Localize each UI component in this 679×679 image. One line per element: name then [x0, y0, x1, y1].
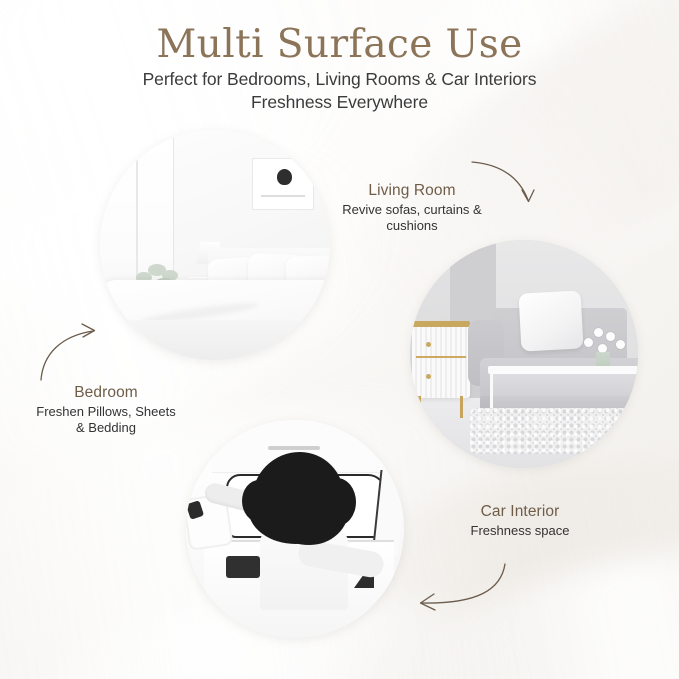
callout-description-line-2: cushions — [322, 218, 502, 234]
livingroom-cushion — [519, 290, 584, 351]
callout-bedroom: Bedroom Freshen Pillows, Sheets & Beddin… — [6, 384, 206, 436]
callout-description: Freshness space — [430, 523, 610, 539]
cabinet-leg — [460, 396, 463, 418]
woman-curly-hair — [252, 452, 344, 538]
cabinet-knob — [426, 342, 431, 347]
callout-description: Revive sofas, curtains & cushions — [322, 202, 502, 234]
cabinet-gold-line — [416, 356, 466, 358]
callout-description-line-1: Freshen Pillows, Sheets — [6, 404, 206, 420]
subtitle-line-1: Perfect for Bedrooms, Living Rooms & Car… — [0, 68, 679, 91]
livingroom-rug — [470, 408, 638, 454]
car-photo — [186, 420, 404, 638]
page-subtitle: Perfect for Bedrooms, Living Rooms & Car… — [0, 68, 679, 114]
callout-description-line-1: Freshness space — [430, 523, 610, 539]
car-scene — [186, 420, 404, 638]
livingroom-photo — [410, 240, 638, 468]
callout-description-line-1: Revive sofas, curtains & — [322, 202, 502, 218]
car-roof-slot — [268, 446, 320, 450]
car-shadow-shape — [226, 556, 260, 578]
livingroom-scene — [410, 240, 638, 468]
subtitle-line-2: Freshness Everywhere — [0, 91, 679, 114]
bedroom-floor — [100, 320, 330, 360]
cabinet-knob — [426, 374, 431, 379]
callout-living-room: Living Room Revive sofas, curtains & cus… — [322, 182, 502, 234]
callout-car-interior: Car Interior Freshness space — [430, 503, 610, 539]
bedroom-wall-art — [252, 158, 314, 210]
bedroom-photo — [100, 130, 330, 360]
callout-heading: Bedroom — [6, 384, 206, 402]
page-title: Multi Surface Use — [0, 22, 679, 67]
infographic-canvas: Multi Surface Use Perfect for Bedrooms, … — [0, 0, 679, 679]
cabinet-gold-top — [412, 321, 470, 327]
callout-description-line-2: & Bedding — [6, 420, 206, 436]
callout-description: Freshen Pillows, Sheets & Bedding — [6, 404, 206, 436]
bedroom-scene — [100, 130, 330, 360]
livingroom-cabinet — [412, 326, 470, 398]
callout-heading: Living Room — [322, 182, 502, 200]
cabinet-leg — [418, 396, 421, 418]
callout-heading: Car Interior — [430, 503, 610, 521]
